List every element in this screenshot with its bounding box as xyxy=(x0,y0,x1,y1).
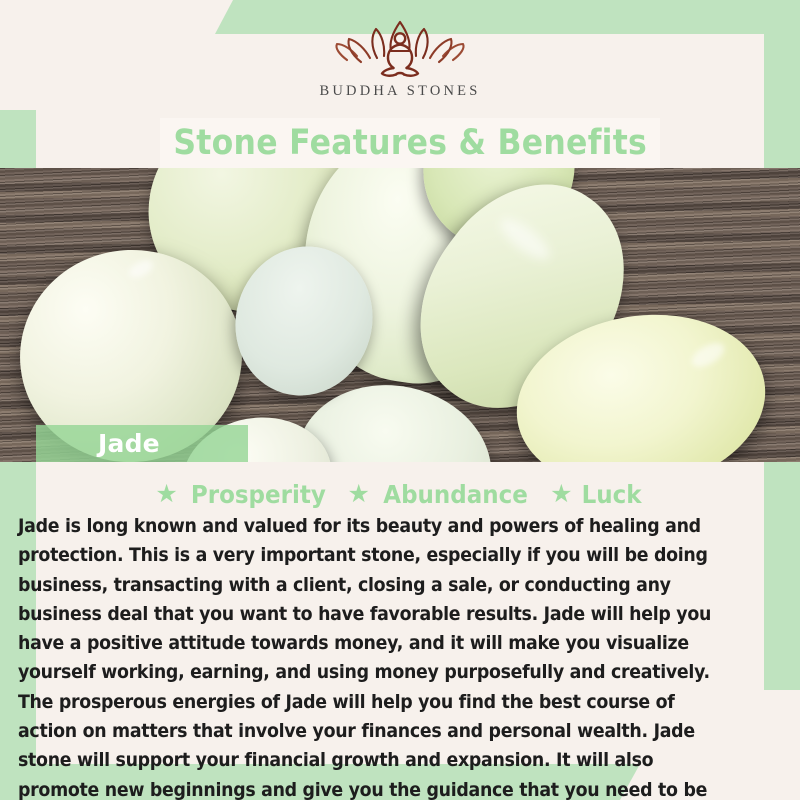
star-icon: ★ xyxy=(347,482,369,507)
benefit-label: Abundance xyxy=(383,480,528,509)
benefit-label: Prosperity xyxy=(191,480,326,509)
stone-photo xyxy=(0,168,800,462)
infographic-card: BUDDHA STONES Stone Features & Benefits … xyxy=(0,0,800,800)
lotus-meditation-icon xyxy=(327,18,473,80)
benefit-item: ★ Abundance xyxy=(347,480,534,509)
stone-name-bar: Jade xyxy=(36,425,248,462)
title-banner: Stone Features & Benefits xyxy=(160,118,660,168)
star-icon: ★ xyxy=(550,482,572,507)
brand-wordmark: BUDDHA STONES xyxy=(320,83,481,100)
brand-logo: BUDDHA STONES xyxy=(0,18,800,118)
benefit-label: Luck xyxy=(582,480,642,509)
page-title: Stone Features & Benefits xyxy=(173,123,647,163)
benefits-row: ★ Prosperity ★ Abundance ★ Luck xyxy=(0,478,800,510)
benefit-item: ★ Prosperity xyxy=(155,480,331,509)
benefit-item: ★ Luck xyxy=(550,480,645,509)
star-icon: ★ xyxy=(155,482,177,507)
stone-name-label: Jade xyxy=(98,429,160,458)
description-text: Jade is long known and valued for its be… xyxy=(18,512,736,800)
